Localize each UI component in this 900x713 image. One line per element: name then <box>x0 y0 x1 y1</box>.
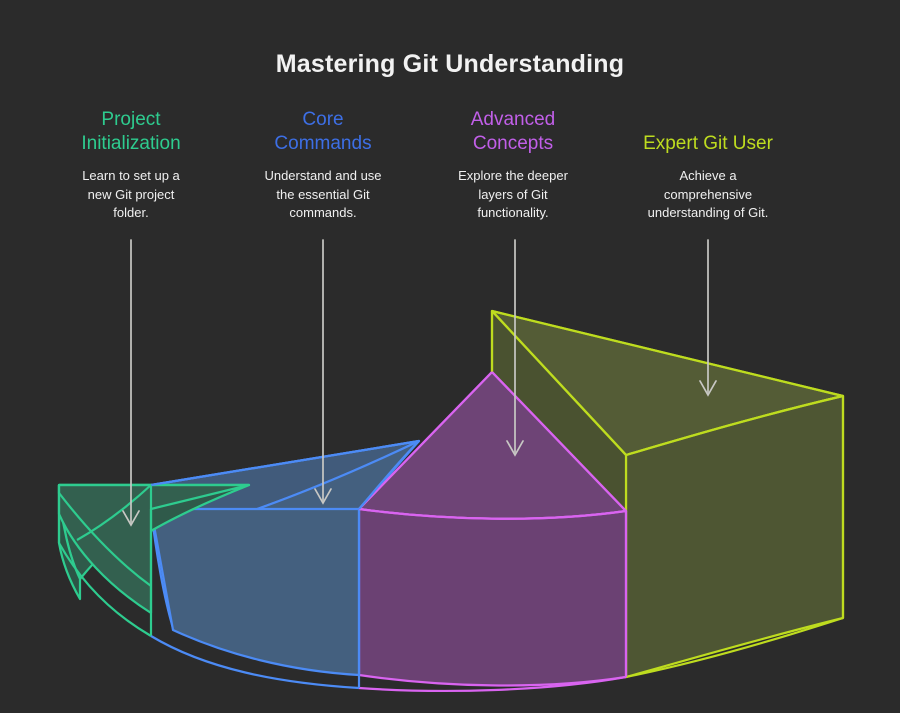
stage-2-description: Understand and use the essential Git com… <box>244 167 402 223</box>
stage-1-title: Project Initialization <box>52 108 210 156</box>
stage-4-title: Expert Git User <box>618 132 798 156</box>
stage-3-description: Explore the deeper layers of Git functio… <box>434 167 592 223</box>
stage-label-4[interactable]: Expert Git User Achieve a comprehensive … <box>618 132 798 223</box>
segment-3-front-wall <box>359 509 626 685</box>
stage-1-description: Learn to set up a new Git project folder… <box>52 167 210 223</box>
stage-label-2[interactable]: Core Commands Understand and use the ess… <box>244 108 402 223</box>
diagram-canvas: Mastering Git Understanding <box>0 0 900 713</box>
callout-arrow-1 <box>123 240 139 525</box>
git-mastery-funnel-diagram <box>0 0 900 713</box>
segment-2-body <box>151 509 359 675</box>
stage-3-title: Advanced Concepts <box>434 108 592 156</box>
stage-2-title: Core Commands <box>244 108 402 156</box>
stage-label-3[interactable]: Advanced Concepts Explore the deeper lay… <box>434 108 592 223</box>
stage-4-description: Achieve a comprehensive understanding of… <box>618 167 798 223</box>
stage-label-1[interactable]: Project Initialization Learn to set up a… <box>52 108 210 223</box>
